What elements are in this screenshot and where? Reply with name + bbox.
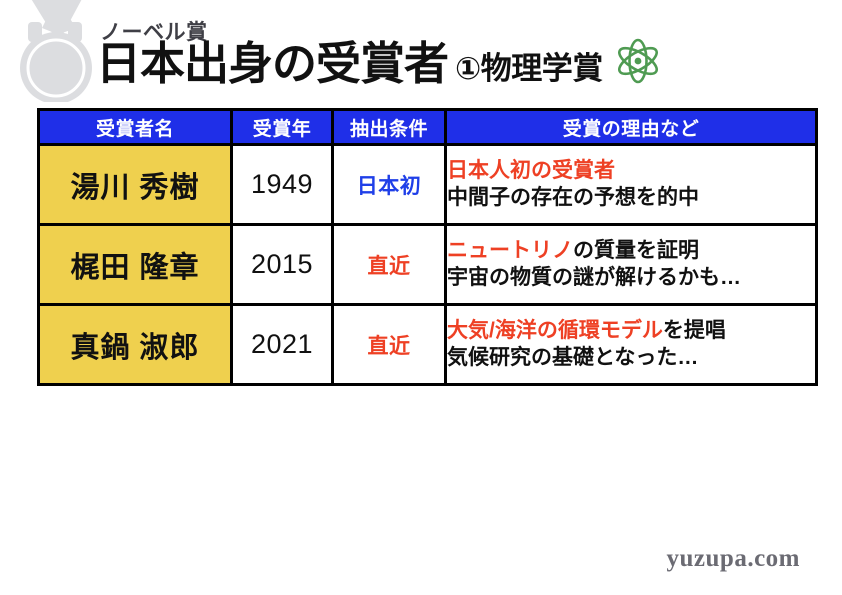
cell-reason: 大気/海洋の循環モデルを提唱 気候研究の基礎となった… <box>446 305 817 385</box>
cell-name: 真鍋 淑郎 <box>39 305 232 385</box>
cell-name: 湯川 秀樹 <box>39 145 232 225</box>
table-body: 湯川 秀樹 1949 日本初 日本人初の受賞者 中間子の存在の予想を的中 梶田 … <box>39 145 817 385</box>
page-title-main: 日本出身の受賞者 <box>96 41 448 86</box>
table-row: 湯川 秀樹 1949 日本初 日本人初の受賞者 中間子の存在の予想を的中 <box>39 145 817 225</box>
reason-highlight: ニュートリノ <box>447 239 573 262</box>
slide-header: ノーベル賞 日本出身の受賞者 ①物理学賞 <box>0 0 842 102</box>
column-header-name: 受賞者名 <box>39 110 232 145</box>
reason-highlight: 大気/海洋の循環モデル <box>447 319 663 342</box>
reason-highlight: 日本人初の受賞者 <box>447 159 615 182</box>
nobel-table-wrapper: 受賞者名 受賞年 抽出条件 受賞の理由など 湯川 秀樹 1949 日本初 日本人… <box>37 108 803 386</box>
reason-line-1: 日本人初の受賞者 <box>447 158 815 184</box>
column-header-reason: 受賞の理由など <box>446 110 817 145</box>
table-row: 真鍋 淑郎 2021 直近 大気/海洋の循環モデルを提唱 気候研究の基礎となった… <box>39 305 817 385</box>
table-header-row: 受賞者名 受賞年 抽出条件 受賞の理由など <box>39 110 817 145</box>
column-header-condition: 抽出条件 <box>333 110 446 145</box>
page-title-sub: ①物理学賞 <box>455 53 603 84</box>
cell-condition: 直近 <box>333 305 446 385</box>
page-title: 日本出身の受賞者 ①物理学賞 <box>96 38 662 86</box>
atom-icon <box>614 37 662 85</box>
reason-normal: を提唱 <box>663 319 726 342</box>
reason-line-1: 大気/海洋の循環モデルを提唱 <box>447 318 815 344</box>
cell-year: 1949 <box>232 145 333 225</box>
cell-year: 2021 <box>232 305 333 385</box>
reason-line-2: 宇宙の物質の謎が解けるかも… <box>447 265 815 291</box>
table-row: 梶田 隆章 2015 直近 ニュートリノの質量を証明 宇宙の物質の謎が解けるかも… <box>39 225 817 305</box>
site-watermark: yuzupa.com <box>667 545 800 573</box>
cell-reason: ニュートリノの質量を証明 宇宙の物質の謎が解けるかも… <box>446 225 817 305</box>
cell-reason: 日本人初の受賞者 中間子の存在の予想を的中 <box>446 145 817 225</box>
reason-normal: の質量を証明 <box>573 239 699 262</box>
cell-year: 2015 <box>232 225 333 305</box>
column-header-year: 受賞年 <box>232 110 333 145</box>
reason-line-1: ニュートリノの質量を証明 <box>447 238 815 264</box>
cell-condition: 日本初 <box>333 145 446 225</box>
nobel-laureates-table: 受賞者名 受賞年 抽出条件 受賞の理由など 湯川 秀樹 1949 日本初 日本人… <box>37 108 818 386</box>
cell-condition: 直近 <box>333 225 446 305</box>
reason-line-2: 気候研究の基礎となった… <box>447 345 815 371</box>
cell-name: 梶田 隆章 <box>39 225 232 305</box>
reason-line-2: 中間子の存在の予想を的中 <box>447 185 815 211</box>
table-header: 受賞者名 受賞年 抽出条件 受賞の理由など <box>39 110 817 145</box>
